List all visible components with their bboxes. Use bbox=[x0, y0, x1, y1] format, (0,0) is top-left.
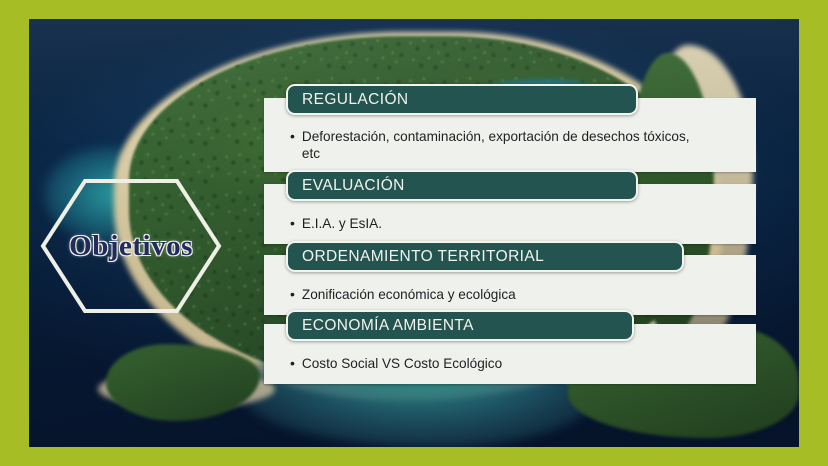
bullet-item: • Deforestación, contaminación, exportac… bbox=[290, 128, 710, 162]
bullet-text: E.I.A. y EsIA. bbox=[302, 215, 382, 232]
block-header-ordenamiento-territorial[interactable]: ORDENAMIENTO TERRITORIAL bbox=[286, 241, 684, 272]
block-header-label: REGULACIÓN bbox=[302, 91, 409, 109]
objetivos-hexagon: Objetivos bbox=[40, 178, 222, 314]
hexagon-title: Objetivos bbox=[40, 178, 222, 314]
bullet-dot-icon: • bbox=[290, 286, 295, 303]
block-header-label: ECONOMÍA AMBIENTA bbox=[302, 317, 474, 335]
block-header-label: ORDENAMIENTO TERRITORIAL bbox=[302, 248, 544, 266]
bullet-dot-icon: • bbox=[290, 215, 295, 232]
bullet-dot-icon: • bbox=[290, 355, 295, 372]
bullet-text: Zonificación económica y ecológica bbox=[302, 286, 516, 303]
bullet-item: • Zonificación económica y ecológica bbox=[290, 286, 710, 303]
bullet-item: • E.I.A. y EsIA. bbox=[290, 215, 710, 232]
block-header-label: EVALUACIÓN bbox=[302, 177, 405, 195]
bullet-dot-icon: • bbox=[290, 128, 295, 145]
block-header-regulacion[interactable]: REGULACIÓN bbox=[286, 84, 638, 115]
bullet-text: Deforestación, contaminación, exportació… bbox=[302, 128, 710, 162]
bullet-text: Costo Social VS Costo Ecológico bbox=[302, 355, 502, 372]
slide-canvas: Objetivos • Deforestación, contaminación… bbox=[0, 0, 828, 466]
bullet-item: • Costo Social VS Costo Ecológico bbox=[290, 355, 710, 372]
block-header-economia-ambienta[interactable]: ECONOMÍA AMBIENTA bbox=[286, 310, 634, 341]
block-header-evaluacion[interactable]: EVALUACIÓN bbox=[286, 170, 638, 201]
